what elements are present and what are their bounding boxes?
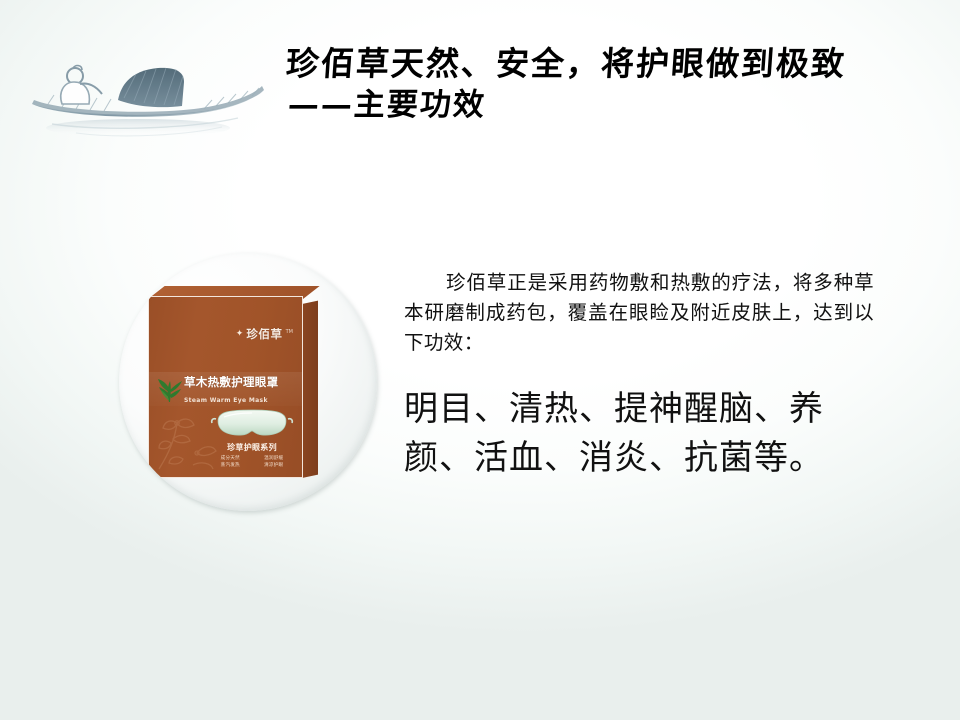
product-name-cn: 草木热敷护理眼罩 (184, 375, 278, 389)
eye-mask-icon (210, 407, 294, 439)
benefits-text: 明目、清热、提神醒脑、养颜、活血、消炎、抗菌等。 (404, 385, 884, 483)
brand-name: 珍佰草 (246, 326, 282, 342)
product-image-circle: ✦ 珍佰草 TM (119, 253, 377, 511)
sparkle-icon: ✦ (236, 330, 244, 339)
slide-title-block: 珍佰草天然、安全，将护眼做到极致 ——主要功效 (286, 44, 946, 124)
product-series-label: 珍草护眼系列 (210, 442, 294, 453)
leaf-icon (155, 376, 183, 403)
product-box: ✦ 珍佰草 TM (148, 286, 303, 478)
product-name-en: Steam Warm Eye Mask (184, 397, 268, 404)
box-side-face (302, 301, 318, 478)
box-front-face: ✦ 珍佰草 TM (148, 296, 303, 478)
eye-mask-group: 珍草护眼系列 成分天然 温润舒缓 蒸汽发热 清凉护眼 (210, 407, 294, 468)
slide-canvas: 珍佰草天然、安全，将护眼做到极致 ——主要功效 (0, 0, 960, 720)
product-brand-mark: ✦ 珍佰草 TM (236, 326, 293, 342)
trademark-symbol: TM (286, 329, 293, 335)
body-paragraph: 珍佰草正是采用药物敷和热敷的疗法，将多种草本研磨制成药包，覆盖在眼睑及附近皮肤上… (404, 268, 874, 358)
page-subtitle: ——主要功效 (287, 86, 948, 124)
feature-item: 清凉护眼 (254, 462, 295, 468)
product-feature-list: 成分天然 温润舒缓 蒸汽发热 清凉护眼 (210, 455, 294, 468)
page-title: 珍佰草天然、安全，将护眼做到极致 (285, 44, 948, 84)
feature-item: 温润舒缓 (254, 455, 295, 461)
feature-item: 蒸汽发热 (210, 462, 251, 468)
ink-boat-illustration (18, 38, 270, 150)
product-name-band: 草木热敷护理眼罩 Steam Warm Eye Mask (149, 372, 302, 406)
feature-item: 成分天然 (210, 455, 251, 461)
